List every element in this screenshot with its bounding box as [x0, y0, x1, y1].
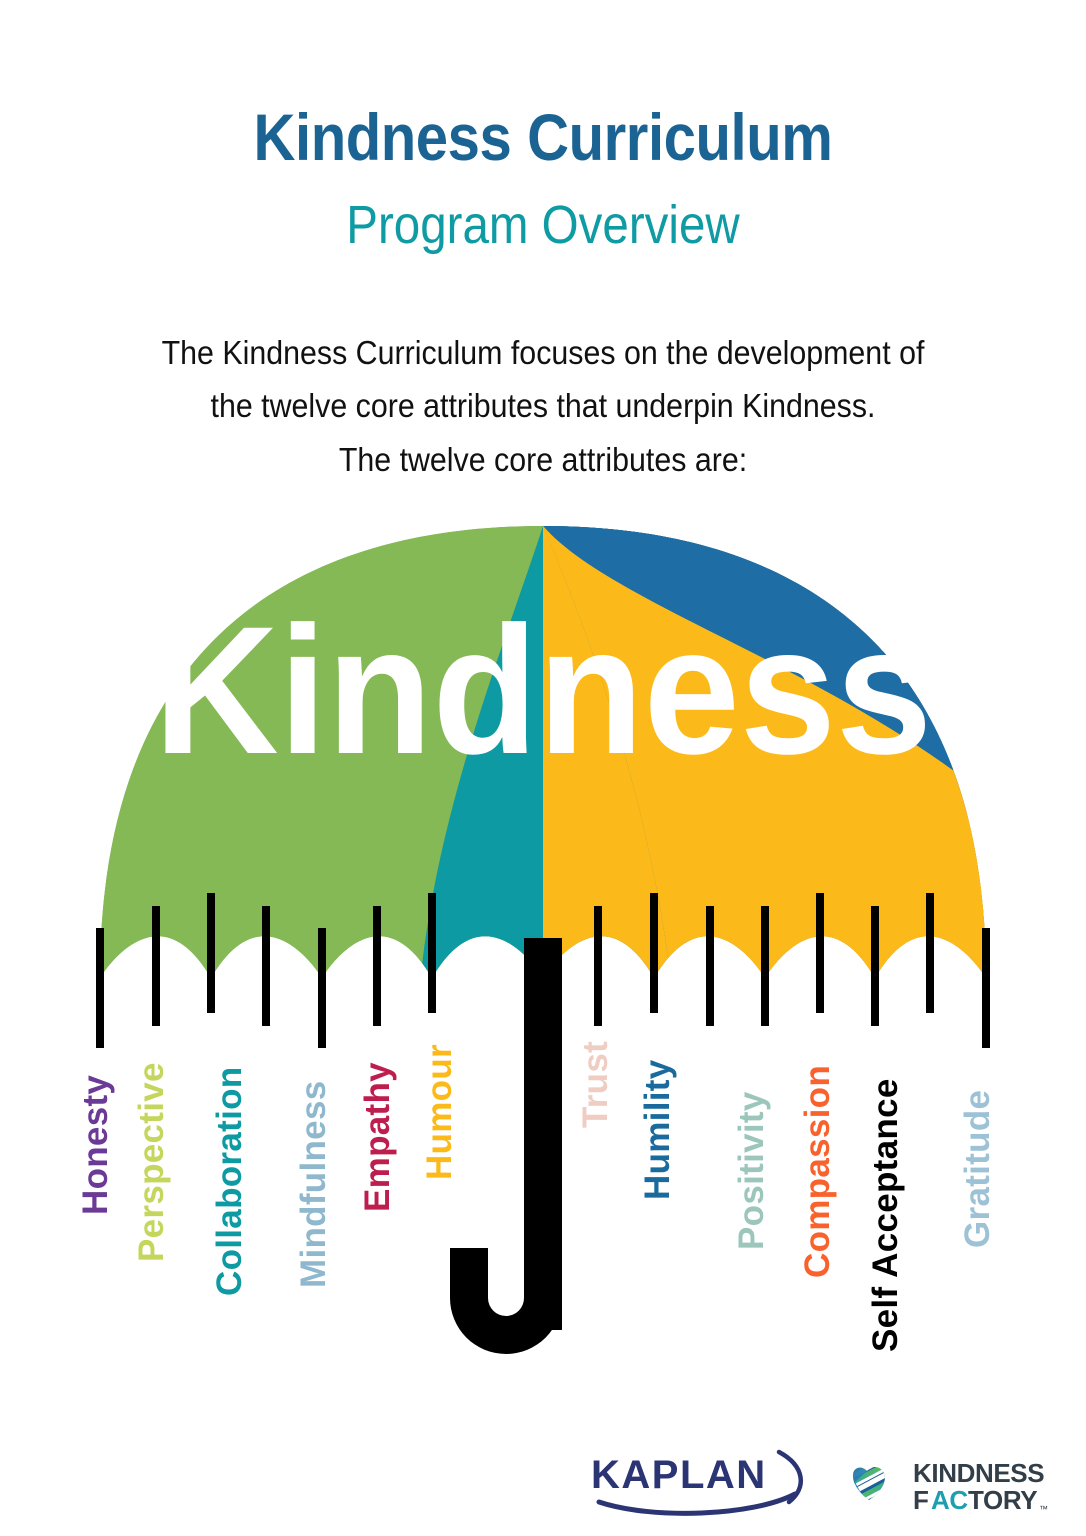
intro-line-3: The twelve core attributes are: [131, 433, 955, 486]
kf-heart-icon [849, 1452, 907, 1514]
kindness-factory-logo: KINDNESS F AC TORY ™ [849, 1452, 1054, 1518]
kf-trademark: ™ [1039, 1504, 1048, 1514]
poster-page: Kindness Curriculum Program Overview The… [0, 0, 1086, 1536]
intro-paragraph: The Kindness Curriculum focuses on the d… [131, 326, 955, 486]
intro-line-2: the twelve core attributes that underpin… [131, 379, 955, 432]
intro-line-1: The Kindness Curriculum focuses on the d… [131, 326, 955, 379]
umbrella-graphic: Kindness [0, 508, 1086, 1448]
kf-line2-ac: AC [931, 1485, 968, 1515]
handle-hook [450, 1208, 562, 1354]
page-title: Kindness Curriculum [65, 104, 1021, 170]
umbrella-handle [450, 938, 562, 1354]
page-subtitle: Program Overview [65, 198, 1021, 252]
kf-line2-tory: TORY [968, 1485, 1037, 1515]
kaplan-wordmark: KAPLAN [591, 1453, 767, 1497]
kaplan-logo: KAPLAN [583, 1448, 805, 1520]
kf-line1: KINDNESS [913, 1458, 1044, 1488]
umbrella-center-word: Kindness [154, 588, 932, 792]
kf-line2-f: F [913, 1485, 928, 1515]
